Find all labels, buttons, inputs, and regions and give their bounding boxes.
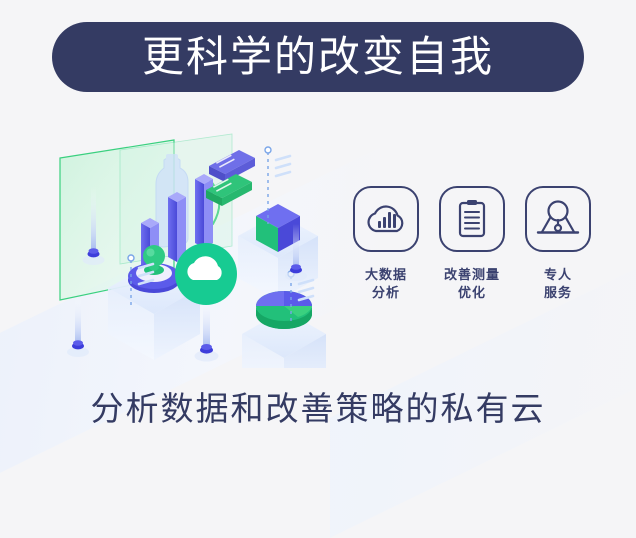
feature-label-line1: 改善测量 [444, 267, 500, 282]
feature-label-support: 专人 服务 [544, 266, 572, 302]
feature-item-measurement[interactable]: 改善测量 优化 [438, 186, 506, 336]
cloud-bar-chart-icon-frame [353, 186, 419, 252]
support-agent-icon-frame [525, 186, 591, 252]
feature-label-big-data: 大数据 分析 [365, 266, 407, 302]
feature-label-line1: 大数据 [365, 267, 407, 282]
feature-item-big-data[interactable]: 大数据 分析 [352, 186, 420, 336]
feature-label-line2: 分析 [372, 285, 400, 300]
feature-label-measurement: 改善测量 优化 [444, 266, 500, 302]
location-pin [67, 296, 89, 357]
cube-pedestal [238, 204, 318, 300]
headline-banner: 更科学的改变自我 [52, 22, 584, 92]
feature-item-support[interactable]: 专人 服务 [524, 186, 592, 336]
feature-icon-row: 大数据 分析 改善测量 优化 [352, 186, 592, 336]
feature-label-line2: 服务 [544, 285, 572, 300]
feature-label-line2: 优化 [458, 285, 486, 300]
footer-tagline: 分析数据和改善策略的私有云 [0, 382, 636, 430]
clipboard-icon [455, 198, 489, 240]
clipboard-icon-frame [439, 186, 505, 252]
support-agent-icon [536, 199, 580, 239]
pie-chart-pedestal [242, 291, 326, 368]
cloud-bar-chart-icon [365, 201, 407, 237]
isometric-illustration [46, 128, 346, 368]
headline-text: 更科学的改变自我 [142, 36, 494, 78]
poster-root: 更科学的改变自我 [0, 0, 636, 450]
feature-label-line1: 专人 [544, 267, 572, 282]
